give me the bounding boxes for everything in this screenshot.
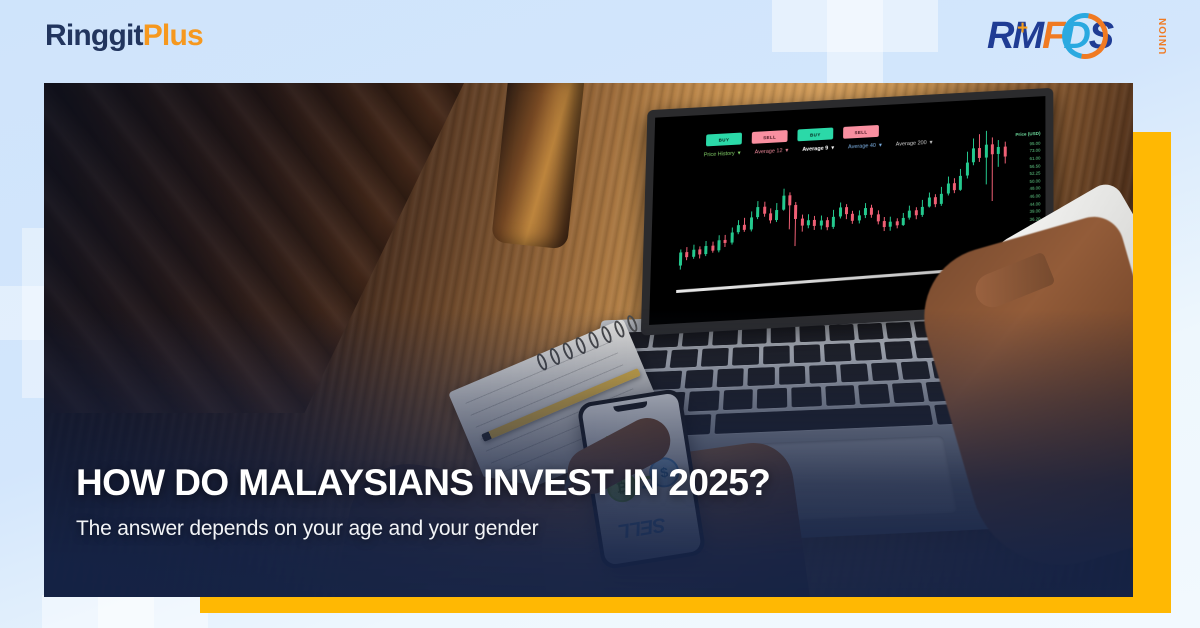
axis-tick-5: 50.00 (1030, 179, 1041, 184)
accent-bar-bottom (200, 597, 1171, 613)
promo-banner: RinggitPlus RMFDS + UNION (0, 0, 1200, 628)
axis-tick-7: 46.00 (1030, 194, 1041, 199)
phone-notch (613, 401, 648, 412)
axis-tick-6: 48.00 (1030, 187, 1041, 192)
headline-block: HOW DO MALAYSIANS INVEST IN 2025? The an… (76, 464, 996, 541)
plus-watermark-top (772, 0, 938, 88)
brand-name-secondary: Plus (143, 19, 203, 52)
axis-tick-4: 52.25 (1030, 172, 1041, 177)
price-axis-title: Price (USD) (1015, 132, 1040, 138)
partner-letters-rm: RM (987, 15, 1042, 57)
partner-ring-icon (1053, 4, 1117, 68)
axis-tick-0: 95.00 (1030, 141, 1041, 146)
page-subtitle: The answer depends on your age and your … (76, 516, 996, 541)
axis-tick-8: 44.00 (1030, 202, 1041, 207)
axis-tick-1: 73.00 (1030, 149, 1041, 154)
brand-name-primary: Ringgit (45, 19, 143, 52)
page-title: HOW DO MALAYSIANS INVEST IN 2025? (76, 464, 996, 503)
axis-tick-3: 56.50 (1030, 164, 1041, 169)
partner-letter-f: F (1042, 15, 1063, 57)
ringgitplus-logo[interactable]: RinggitPlus (45, 21, 203, 51)
partner-logo[interactable]: RMFDS + UNION (987, 11, 1167, 69)
partner-plus-icon: + (1017, 19, 1028, 38)
axis-tick-9: 39.00 (1030, 209, 1041, 214)
accent-bar-right (1133, 132, 1171, 613)
partner-tagline: UNION (1158, 17, 1169, 54)
axis-tick-2: 61.00 (1030, 157, 1041, 162)
hero-image: BUYSELLBUYSELL Price History▼Average 12▼… (44, 83, 1133, 597)
